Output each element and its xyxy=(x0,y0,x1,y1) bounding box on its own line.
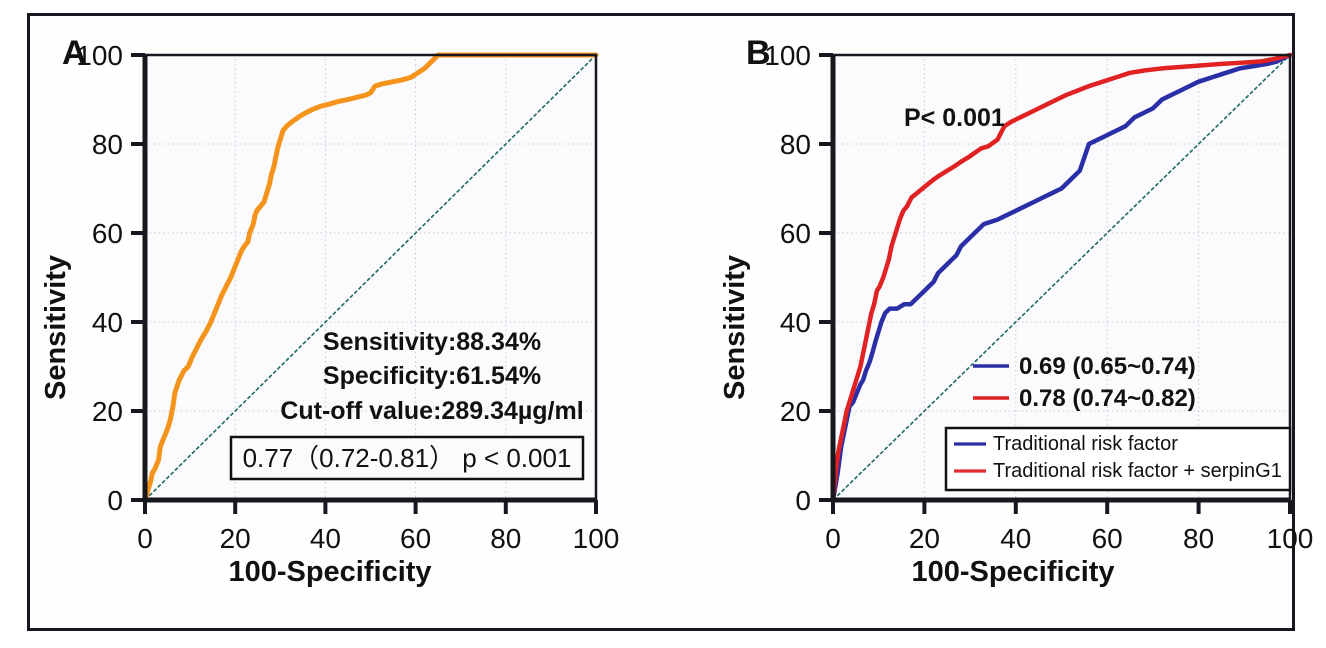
annotation-sensitivity: Sensitivity:88.34% xyxy=(323,328,541,356)
x-axis-tick-label: 100 xyxy=(1267,523,1314,554)
x-axis-tick-label: 80 xyxy=(1183,523,1214,554)
annotation-auc-red: 0.78 (0.74~0.82) xyxy=(1019,385,1196,412)
x-axis-tick-label: 60 xyxy=(400,523,431,554)
x-axis-tick-label: 100 xyxy=(573,523,620,554)
y-axis-tick-label: 20 xyxy=(92,396,123,427)
y-axis-tick-label: 40 xyxy=(780,307,811,338)
legend-item-label-1: Traditional risk factor xyxy=(993,433,1178,455)
panel-b: B Sensitivity 100-Specificity 0204060801… xyxy=(663,0,1326,648)
annotation-specificity: Specificity:61.54% xyxy=(323,362,541,390)
x-axis-tick-label: 60 xyxy=(1092,523,1123,554)
panel-a-plot: 020406080100020406080100Sensitivity:88.3… xyxy=(0,0,663,648)
panel-b-plot: 020406080100020406080100P< 0.0010.69 (0.… xyxy=(663,0,1326,648)
y-axis-tick-label: 0 xyxy=(795,485,811,516)
panel-b-x-axis-title: 100-Specificity xyxy=(743,556,1283,589)
panel-b-letter: B xyxy=(746,36,771,70)
legend-item-label-2: Traditional risk factor + serpinG1 xyxy=(993,460,1282,482)
panel-b-y-axis-title: Sensitivity xyxy=(719,255,752,400)
y-axis-tick-label: 60 xyxy=(780,218,811,249)
panel-a-x-axis-title: 100-Specificity xyxy=(60,556,600,589)
y-axis-tick-label: 80 xyxy=(780,129,811,160)
x-axis-tick-label: 20 xyxy=(909,523,940,554)
panel-a-letter: A xyxy=(62,36,87,70)
x-axis-tick-label: 20 xyxy=(220,523,251,554)
x-axis-tick-label: 0 xyxy=(137,523,153,554)
annotation-auc-blue: 0.69 (0.65~0.74) xyxy=(1019,353,1196,380)
y-axis-tick-label: 80 xyxy=(92,129,123,160)
annotation-p-value: P< 0.001 xyxy=(904,104,1005,132)
panel-a: A Sensitivity 100-Specificity 0204060801… xyxy=(0,0,663,648)
auc-box-label: 0.77（0.72-0.81） p < 0.001 xyxy=(243,443,572,473)
roc-figure: A Sensitivity 100-Specificity 0204060801… xyxy=(0,0,1326,648)
panel-a-y-axis-title: Sensitivity xyxy=(40,255,73,400)
annotation-cutoff: Cut-off value:289.34µg/ml xyxy=(280,397,583,425)
x-axis-tick-label: 80 xyxy=(490,523,521,554)
y-axis-tick-label: 40 xyxy=(92,307,123,338)
x-axis-tick-label: 40 xyxy=(310,523,341,554)
y-axis-tick-label: 100 xyxy=(764,40,811,71)
y-axis-tick-label: 0 xyxy=(107,485,123,516)
x-axis-tick-label: 0 xyxy=(825,523,841,554)
y-axis-tick-label: 60 xyxy=(92,218,123,249)
y-axis-tick-label: 20 xyxy=(780,396,811,427)
x-axis-tick-label: 40 xyxy=(1000,523,1031,554)
plot-background xyxy=(145,55,596,500)
